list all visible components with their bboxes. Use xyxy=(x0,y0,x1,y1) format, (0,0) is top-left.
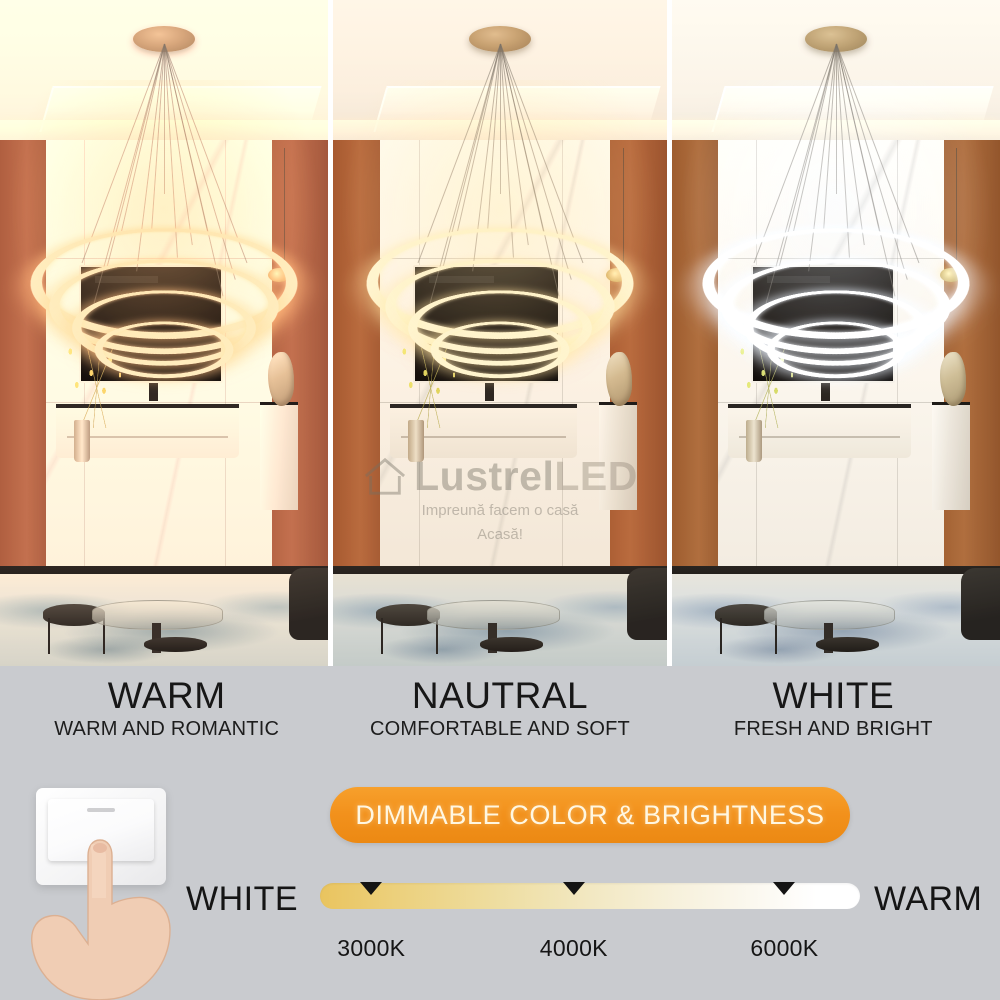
room-scene xyxy=(0,0,328,666)
sculpture xyxy=(268,352,294,406)
coffee-table xyxy=(764,600,895,630)
floor-tray xyxy=(816,637,878,652)
tone-description: WARM AND ROMANTIC xyxy=(0,718,333,741)
tone-title: NAUTRAL xyxy=(333,675,666,716)
color-temperature-scale: WHITE WARM 3000K 4000K 6000K xyxy=(0,866,1000,956)
tone-captions: WARM WARM AND ROMANTIC NAUTRAL COMFORTAB… xyxy=(0,666,1000,770)
temperature-marker-4000k xyxy=(563,882,585,895)
tone-title: WHITE xyxy=(667,675,1000,716)
suspension-cable xyxy=(500,44,501,194)
floor-tray xyxy=(480,637,543,652)
suspension-cable xyxy=(836,44,837,194)
vase xyxy=(408,420,424,462)
scale-label-white: WHITE xyxy=(186,880,298,919)
product-infographic: LustrelLED Impreună facem o casă Acasă! xyxy=(0,0,1000,1000)
tone-title: WARM xyxy=(0,675,333,716)
led-ring-chandelier xyxy=(0,0,328,360)
led-ring-chandelier xyxy=(333,0,667,360)
tv-stand xyxy=(149,383,158,401)
room-photo-gallery: LustrelLED Impreună facem o casă Acasă! xyxy=(0,0,1000,666)
armchair xyxy=(961,568,1000,640)
dimming-control-band: DIMMABLE COLOR & BRIGHTNESS WHITE WARM 3… xyxy=(0,770,1000,1000)
tick-label-3000k: 3000K xyxy=(337,935,405,962)
temperature-gradient-bar[interactable]: 3000K 4000K 6000K xyxy=(320,883,860,909)
coffee-table xyxy=(427,600,561,630)
caption-warm: WARM WARM AND ROMANTIC xyxy=(0,666,333,770)
floor-tray xyxy=(144,637,206,652)
room-scene: LustrelLED Impreună facem o casă Acasă! xyxy=(333,0,667,666)
vase xyxy=(746,420,762,462)
tick-label-6000k: 6000K xyxy=(750,935,818,962)
tone-description: COMFORTABLE AND SOFT xyxy=(333,718,666,741)
sculpture xyxy=(940,352,966,406)
pedestal xyxy=(260,402,298,510)
dimmable-banner: DIMMABLE COLOR & BRIGHTNESS xyxy=(330,787,850,843)
caption-white: WHITE FRESH AND BRIGHT xyxy=(667,666,1000,770)
scale-label-warm: WARM xyxy=(874,880,982,919)
caption-neutral: NAUTRAL COMFORTABLE AND SOFT xyxy=(333,666,666,770)
room-scene xyxy=(672,0,1000,666)
suspension-cable xyxy=(164,44,165,194)
pedestal xyxy=(599,402,637,510)
temperature-marker-6000k xyxy=(773,882,795,895)
pedestal xyxy=(932,402,970,510)
tone-description: FRESH AND BRIGHT xyxy=(667,718,1000,741)
temperature-marker-3000k xyxy=(360,882,382,895)
tick-label-4000k: 4000K xyxy=(540,935,608,962)
armchair xyxy=(289,568,328,640)
room-photo-neutral: LustrelLED Impreună facem o casă Acasă! xyxy=(333,0,667,666)
room-photo-white xyxy=(672,0,1000,666)
coffee-table xyxy=(92,600,223,630)
armchair xyxy=(627,568,667,640)
switch-brand-mark xyxy=(87,808,115,812)
room-photo-warm xyxy=(0,0,328,666)
tv-stand xyxy=(821,383,830,401)
vase xyxy=(74,420,90,462)
led-ring-chandelier xyxy=(672,0,1000,360)
tv-stand xyxy=(485,383,494,401)
sculpture xyxy=(606,352,632,406)
dimmable-banner-text: DIMMABLE COLOR & BRIGHTNESS xyxy=(355,800,824,831)
